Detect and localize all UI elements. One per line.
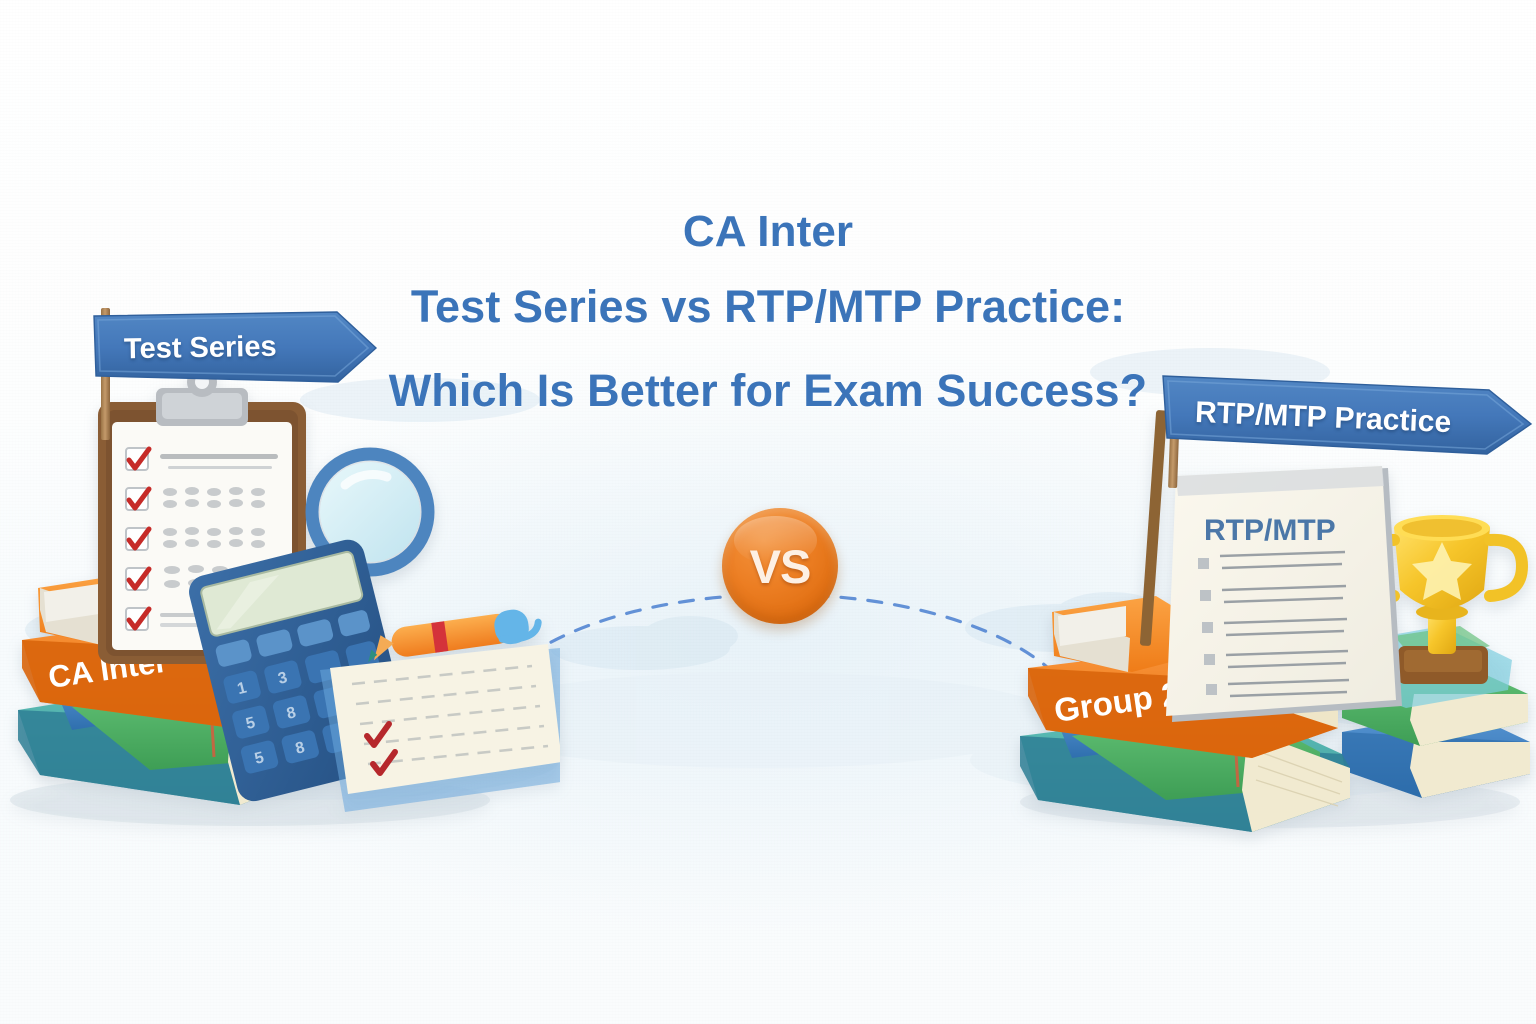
poster-title-block: CA Inter Test Series vs RTP/MTP Practice… [0, 206, 1536, 418]
vs-badge: VS [722, 508, 838, 624]
title-line-2: Test Series vs RTP/MTP Practice: [0, 280, 1536, 334]
poster-canvas: CA Inter [0, 0, 1536, 1024]
svg-text:RTP/MTP: RTP/MTP [1204, 514, 1336, 547]
title-line-3: Which Is Better for Exam Success? [0, 364, 1536, 418]
left-answer-sheet [320, 644, 560, 812]
right-rtp-mtp-document: RTP/MTP [1166, 466, 1402, 722]
title-line-1: CA Inter [0, 206, 1536, 258]
vs-badge-label: VS [722, 508, 838, 624]
